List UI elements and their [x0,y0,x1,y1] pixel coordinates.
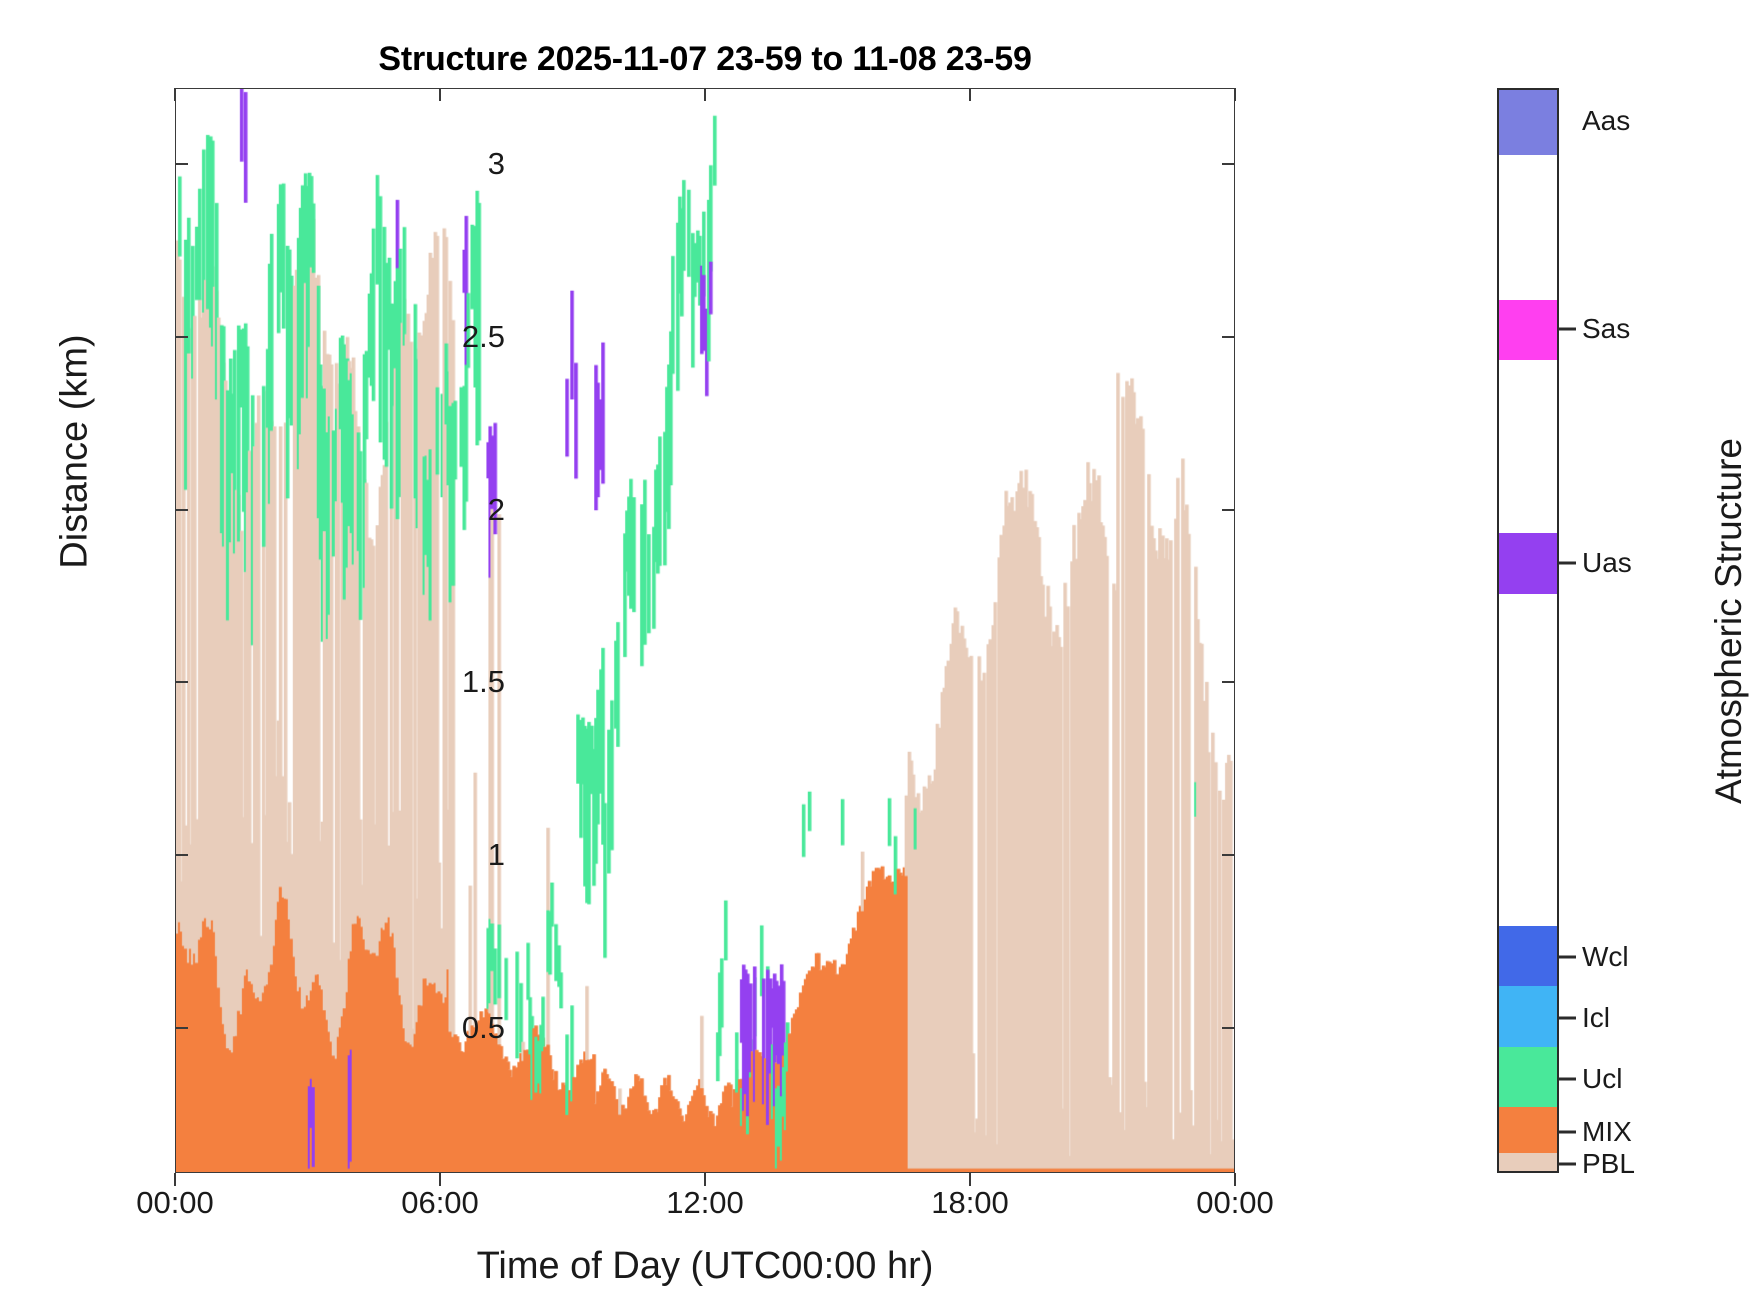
y-tick-mark [175,509,188,511]
colorbar-title: Atmospheric Structure [1708,361,1750,881]
colorbar-label-ucl: Ucl [1582,1063,1622,1095]
colorbar-label-icl: Icl [1582,1002,1610,1034]
x-tick-mark [969,1173,971,1186]
structure-plot-canvas [176,89,1234,1172]
y-tick-mark [175,1027,188,1029]
y-tick-label: 1 [488,837,505,873]
x-tick-mark [174,1173,176,1186]
colorbar-tick-mark [1559,1130,1576,1133]
x-tick-mark [439,1173,441,1186]
x-tick-mark [969,88,971,101]
colorbar-segment-aas [1499,90,1557,155]
y-tick-mark [1222,163,1235,165]
y-tick-mark [175,163,188,165]
colorbar-label-wcl: Wcl [1582,941,1629,973]
colorbar-segment-icl [1499,986,1557,1047]
colorbar-tick-mark [1559,956,1576,959]
x-tick-mark [1234,1173,1236,1186]
colorbar-tick-mark [1559,1163,1576,1166]
colorbar[interactable] [1497,88,1559,1173]
colorbar-segment-uas [1499,533,1557,594]
y-tick-mark [175,336,188,338]
colorbar-tick-mark [1559,1077,1576,1080]
y-tick-label: 2.5 [462,319,505,355]
colorbar-tick-mark [1559,327,1576,330]
colorbar-segment-sas [1499,300,1557,361]
colorbar-label-aas: Aas [1582,105,1630,137]
y-tick-label: 1.5 [462,664,505,700]
x-tick-mark [439,88,441,101]
colorbar-label-uas: Uas [1582,547,1632,579]
colorbar-label-pbl: PBL [1582,1148,1635,1180]
colorbar-tick-mark [1559,1016,1576,1019]
y-tick-mark [175,854,188,856]
y-tick-mark [1222,336,1235,338]
y-tick-label: 0.5 [462,1010,505,1046]
x-tick-mark [1234,88,1236,101]
x-tick-mark [704,1173,706,1186]
y-tick-mark [1222,681,1235,683]
colorbar-tick-mark [1559,562,1576,565]
x-tick-mark [174,88,176,101]
y-tick-mark [1222,1027,1235,1029]
x-tick-label: 06:00 [401,1185,479,1221]
page-title: Structure 2025-11-07 23-59 to 11-08 23-5… [175,40,1235,79]
colorbar-label-mix: MIX [1582,1116,1632,1148]
plot-area [175,88,1235,1173]
y-tick-label: 2 [488,492,505,528]
colorbar-segment-pbl [1499,1153,1557,1171]
colorbar-segment-ucl [1499,1047,1557,1108]
y-axis-label: Distance (km) [54,172,97,732]
colorbar-segment-wcl [1499,926,1557,987]
x-tick-label: 18:00 [931,1185,1009,1221]
y-tick-mark [175,681,188,683]
y-tick-mark [1222,854,1235,856]
x-axis-label: Time of Day (UTC00:00 hr) [175,1245,1235,1288]
x-tick-label: 00:00 [1196,1185,1274,1221]
x-tick-label: 12:00 [666,1185,744,1221]
y-tick-mark [1222,509,1235,511]
x-tick-label: 00:00 [136,1185,214,1221]
colorbar-label-sas: Sas [1582,313,1630,345]
y-tick-label: 3 [488,146,505,182]
x-tick-mark [704,88,706,101]
colorbar-segment-mix [1499,1107,1557,1152]
